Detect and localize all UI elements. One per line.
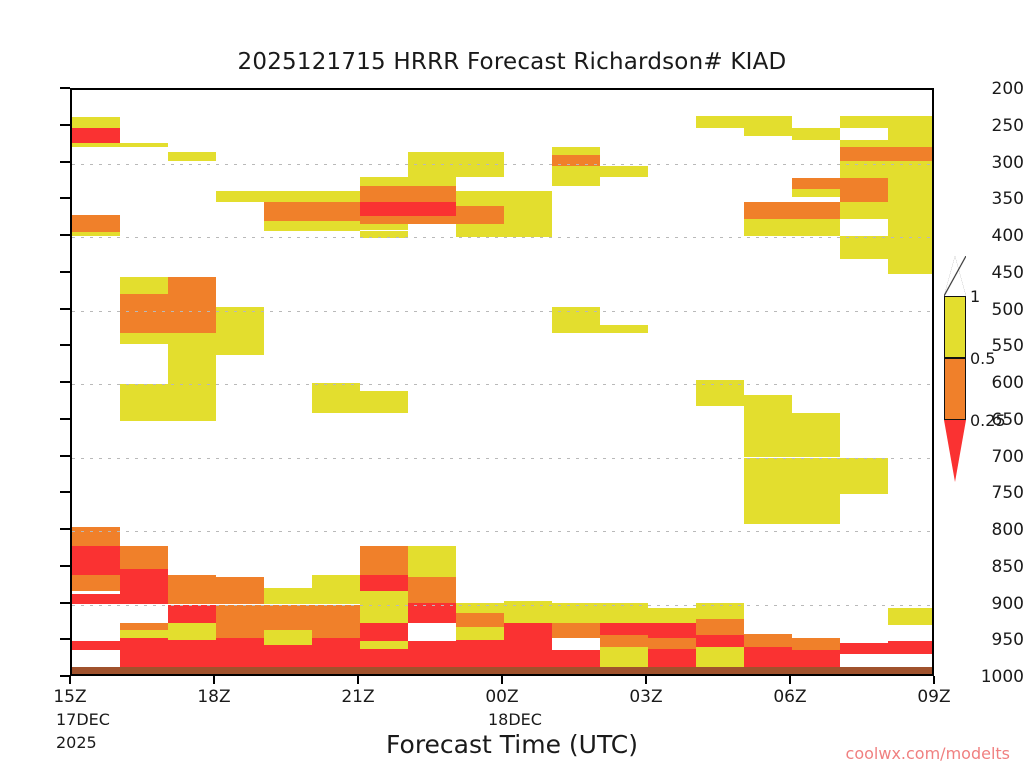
heatmap-cell bbox=[552, 155, 600, 166]
terrain-band bbox=[72, 667, 932, 676]
heatmap-cell bbox=[72, 650, 120, 667]
heatmap-cell bbox=[312, 383, 360, 414]
heatmap-cell bbox=[792, 178, 840, 189]
heatmap-cell bbox=[360, 641, 408, 648]
heatmap-cell bbox=[168, 647, 216, 667]
heatmap-cell bbox=[120, 623, 168, 630]
y-tick-label: 300 bbox=[966, 153, 1024, 173]
y-tick-label: 400 bbox=[966, 226, 1024, 246]
heatmap-cell bbox=[744, 202, 792, 219]
heatmap-cell bbox=[120, 546, 168, 570]
heatmap-cell bbox=[840, 654, 888, 666]
heatmap-cell bbox=[264, 630, 312, 645]
heatmap-cell bbox=[408, 202, 456, 217]
heatmap-cell bbox=[264, 202, 312, 221]
x-tick-label: 15Z bbox=[53, 687, 86, 707]
heatmap-cells bbox=[72, 90, 932, 674]
heatmap-cell bbox=[696, 619, 744, 635]
heatmap-cell bbox=[744, 634, 792, 647]
heatmap-cell bbox=[504, 601, 552, 623]
heatmap-cell bbox=[216, 605, 264, 623]
heatmap-cell bbox=[312, 652, 360, 667]
y-tick-label: 900 bbox=[966, 594, 1024, 614]
plot-area bbox=[70, 88, 934, 676]
heatmap-cell bbox=[168, 373, 216, 421]
heatmap-cell bbox=[456, 152, 504, 176]
heatmap-cell bbox=[360, 391, 408, 413]
heatmap-cell bbox=[360, 575, 408, 591]
heatmap-cell bbox=[408, 641, 456, 667]
heatmap-cell bbox=[120, 143, 168, 147]
heatmap-cell bbox=[504, 638, 552, 667]
heatmap-cell bbox=[792, 413, 840, 457]
heatmap-cell bbox=[216, 623, 264, 638]
x-tick-label: 06Z bbox=[773, 687, 806, 707]
heatmap-cell bbox=[456, 206, 504, 224]
heatmap-cell bbox=[696, 603, 744, 619]
heatmap-cell bbox=[168, 152, 216, 161]
y-tick-mark bbox=[60, 197, 70, 199]
heatmap-cell bbox=[888, 641, 934, 654]
heatmap-cell bbox=[888, 147, 934, 160]
heatmap-cell bbox=[312, 605, 360, 638]
heatmap-cell bbox=[120, 277, 168, 294]
heatmap-cell bbox=[600, 635, 648, 647]
heatmap-cell bbox=[72, 117, 120, 128]
heatmap-cell bbox=[120, 647, 168, 667]
heatmap-cell bbox=[408, 577, 456, 603]
heatmap-cell bbox=[696, 380, 744, 406]
heatmap-cell bbox=[168, 344, 216, 373]
heatmap-cell bbox=[168, 605, 216, 623]
heatmap-cell bbox=[792, 458, 840, 524]
heatmap-cell bbox=[360, 177, 408, 186]
x-tick-mark bbox=[213, 676, 215, 684]
heatmap-cell bbox=[744, 219, 792, 236]
heatmap-cell bbox=[504, 623, 552, 638]
heatmap-cell bbox=[312, 191, 360, 202]
colorbar-label: 1 bbox=[970, 287, 980, 306]
heatmap-cell bbox=[600, 647, 648, 667]
heatmap-cell bbox=[840, 202, 888, 219]
heatmap-cell bbox=[696, 647, 744, 667]
y-tick-mark bbox=[60, 344, 70, 346]
heatmap-cell bbox=[120, 384, 168, 421]
heatmap-cell bbox=[216, 307, 264, 355]
heatmap-cell bbox=[168, 640, 216, 647]
heatmap-cell bbox=[408, 603, 456, 623]
heatmap-cell bbox=[456, 224, 504, 237]
heatmap-cell bbox=[264, 221, 312, 231]
heatmap-cell bbox=[792, 189, 840, 196]
y-tick-mark bbox=[60, 638, 70, 640]
heatmap-cell bbox=[648, 623, 696, 638]
x-tick-label: 00Z bbox=[485, 687, 518, 707]
heatmap-cell bbox=[840, 161, 888, 179]
heatmap-cell bbox=[360, 202, 408, 217]
colorbar-arrow-down bbox=[944, 420, 966, 482]
heatmap-cell bbox=[216, 652, 264, 667]
heatmap-cell bbox=[456, 191, 504, 206]
heatmap-cell bbox=[552, 307, 600, 333]
y-tick-label: 700 bbox=[966, 447, 1024, 467]
y-tick-mark bbox=[60, 234, 70, 236]
heatmap-cell bbox=[360, 186, 408, 202]
heatmap-cell bbox=[168, 277, 216, 332]
y-tick-mark bbox=[60, 381, 70, 383]
heatmap-cell bbox=[504, 191, 552, 206]
heatmap-cell bbox=[648, 649, 696, 667]
heatmap-cell bbox=[888, 625, 934, 641]
heatmap-cell bbox=[552, 166, 600, 186]
heatmap-cell bbox=[168, 333, 216, 344]
y-tick-label: 800 bbox=[966, 520, 1024, 540]
heatmap-cell bbox=[168, 623, 216, 630]
heatmap-cell bbox=[888, 608, 934, 625]
y-tick-label: 200 bbox=[966, 79, 1024, 99]
y-tick-label: 1000 bbox=[966, 667, 1024, 687]
heatmap-cell bbox=[744, 428, 792, 457]
heatmap-cell bbox=[360, 649, 408, 667]
heatmap-cell bbox=[840, 140, 888, 147]
y-tick-mark bbox=[60, 308, 70, 310]
heatmap-cell bbox=[744, 458, 792, 524]
heatmap-cell bbox=[792, 638, 840, 650]
heatmap-cell bbox=[216, 577, 264, 605]
heatmap-cell bbox=[696, 635, 744, 647]
colorbar-label: 0.5 bbox=[970, 349, 995, 368]
heatmap-cell bbox=[840, 643, 888, 655]
heatmap-cell bbox=[552, 650, 600, 667]
x-tick-mark bbox=[69, 676, 71, 684]
credit-watermark: coolwx.com/modelts bbox=[846, 744, 1010, 763]
heatmap-cell bbox=[360, 224, 408, 230]
heatmap-cell bbox=[888, 654, 934, 666]
chart-title: 2025121715 HRRR Forecast Richardson# KIA… bbox=[0, 49, 1024, 75]
heatmap-cell bbox=[840, 147, 888, 160]
colorbar-segment-high bbox=[944, 296, 966, 358]
x-tick-mark bbox=[645, 676, 647, 684]
heatmap-cell bbox=[264, 605, 312, 631]
heatmap-cell bbox=[744, 647, 792, 667]
heatmap-cell bbox=[456, 640, 504, 667]
heatmap-cell bbox=[744, 116, 792, 128]
heatmap-cell bbox=[408, 546, 456, 577]
heatmap-cell bbox=[456, 613, 504, 626]
heatmap-cell bbox=[792, 219, 840, 236]
x-tick-mark bbox=[501, 676, 503, 684]
heatmap-cell bbox=[408, 177, 456, 186]
heatmap-cell bbox=[600, 166, 648, 177]
y-tick-mark bbox=[60, 418, 70, 420]
y-tick-label: 750 bbox=[966, 483, 1024, 503]
heatmap-cell bbox=[552, 147, 600, 155]
heatmap-cell bbox=[840, 458, 888, 495]
y-tick-label: 250 bbox=[966, 116, 1024, 136]
heatmap-cell bbox=[120, 569, 168, 604]
heatmap-cell bbox=[552, 638, 600, 650]
y-tick-mark bbox=[60, 602, 70, 604]
heatmap-cell bbox=[840, 178, 888, 202]
heatmap-cell bbox=[360, 216, 408, 223]
heatmap-cell bbox=[72, 215, 120, 232]
heatmap-cell bbox=[72, 232, 120, 236]
x-tick-sublabel: 18DEC bbox=[488, 710, 542, 729]
heatmap-cell bbox=[792, 128, 840, 140]
heatmap-cell bbox=[216, 638, 264, 653]
heatmap-cell bbox=[744, 128, 792, 135]
heatmap-cell bbox=[792, 202, 840, 219]
y-tick-mark bbox=[60, 271, 70, 273]
colorbar-arrow-up-outline bbox=[944, 256, 966, 296]
y-tick-label: 950 bbox=[966, 630, 1024, 650]
heatmap-cell bbox=[888, 140, 934, 147]
heatmap-cell bbox=[360, 546, 408, 575]
heatmap-cell bbox=[648, 638, 696, 649]
heatmap-cell bbox=[600, 325, 648, 332]
heatmap-cell bbox=[72, 575, 120, 591]
heatmap-cell bbox=[312, 221, 360, 231]
heatmap-cell bbox=[264, 588, 312, 604]
heatmap-cell bbox=[408, 152, 456, 176]
heatmap-cell bbox=[744, 395, 792, 428]
heatmap-cell bbox=[840, 116, 888, 128]
x-tick-label: 18Z bbox=[197, 687, 230, 707]
heatmap-cell bbox=[264, 645, 312, 667]
x-tick-label: 21Z bbox=[341, 687, 374, 707]
heatmap-cell bbox=[600, 623, 648, 635]
heatmap-cell bbox=[408, 216, 456, 223]
heatmap-cell bbox=[72, 594, 120, 604]
heatmap-cell bbox=[360, 591, 408, 623]
heatmap-cell bbox=[72, 527, 120, 545]
heatmap-cell bbox=[552, 623, 600, 638]
y-tick-mark bbox=[60, 161, 70, 163]
colorbar-label: 0.25 bbox=[970, 411, 1006, 430]
heatmap-cell bbox=[552, 603, 600, 623]
y-tick-label: 850 bbox=[966, 557, 1024, 577]
heatmap-cell bbox=[72, 546, 120, 575]
y-tick-mark bbox=[60, 455, 70, 457]
x-tick-mark bbox=[357, 676, 359, 684]
heatmap-cell bbox=[120, 333, 168, 344]
heatmap-cell bbox=[600, 603, 648, 623]
heatmap-cell bbox=[72, 641, 120, 650]
y-tick-label: 350 bbox=[966, 189, 1024, 209]
heatmap-cell bbox=[360, 231, 408, 238]
heatmap-cell bbox=[888, 164, 934, 274]
heatmap-cell bbox=[408, 186, 456, 202]
y-tick-label: 450 bbox=[966, 263, 1024, 283]
heatmap-cell bbox=[840, 219, 888, 237]
heatmap-cell bbox=[312, 638, 360, 653]
y-tick-mark bbox=[60, 491, 70, 493]
x-tick-mark bbox=[933, 676, 935, 684]
y-tick-mark bbox=[60, 87, 70, 89]
heatmap-cell bbox=[456, 627, 504, 640]
heatmap-cell bbox=[312, 575, 360, 604]
y-tick-mark bbox=[60, 528, 70, 530]
colorbar-legend: 10.50.25 bbox=[944, 296, 966, 484]
colorbar-segment-mid bbox=[944, 358, 966, 420]
heatmap-cell bbox=[168, 630, 216, 640]
chart-canvas: 2025121715 HRRR Forecast Richardson# KIA… bbox=[0, 0, 1024, 768]
x-tick-label: 03Z bbox=[629, 687, 662, 707]
y-tick-mark bbox=[60, 124, 70, 126]
heatmap-cell bbox=[120, 638, 168, 648]
heatmap-cell bbox=[504, 206, 552, 237]
heatmap-cell bbox=[792, 650, 840, 667]
heatmap-cell bbox=[456, 603, 504, 613]
x-tick-sublabel: 17DEC bbox=[56, 710, 110, 729]
heatmap-cell bbox=[216, 191, 264, 202]
heatmap-cell bbox=[72, 128, 120, 143]
heatmap-cell bbox=[408, 623, 456, 641]
y-tick-mark bbox=[60, 565, 70, 567]
heatmap-cell bbox=[360, 623, 408, 641]
heatmap-cell bbox=[888, 128, 934, 140]
heatmap-cell bbox=[840, 236, 888, 260]
x-tick-mark bbox=[789, 676, 791, 684]
heatmap-cell bbox=[120, 294, 168, 332]
heatmap-cell bbox=[168, 575, 216, 604]
heatmap-cell bbox=[120, 630, 168, 637]
x-tick-label: 09Z bbox=[917, 687, 950, 707]
heatmap-cell bbox=[696, 116, 744, 128]
y-tick-label: 600 bbox=[966, 373, 1024, 393]
heatmap-cell bbox=[264, 191, 312, 202]
heatmap-cell bbox=[888, 116, 934, 128]
heatmap-cell bbox=[72, 143, 120, 147]
heatmap-cell bbox=[312, 202, 360, 221]
heatmap-cell bbox=[648, 608, 696, 623]
